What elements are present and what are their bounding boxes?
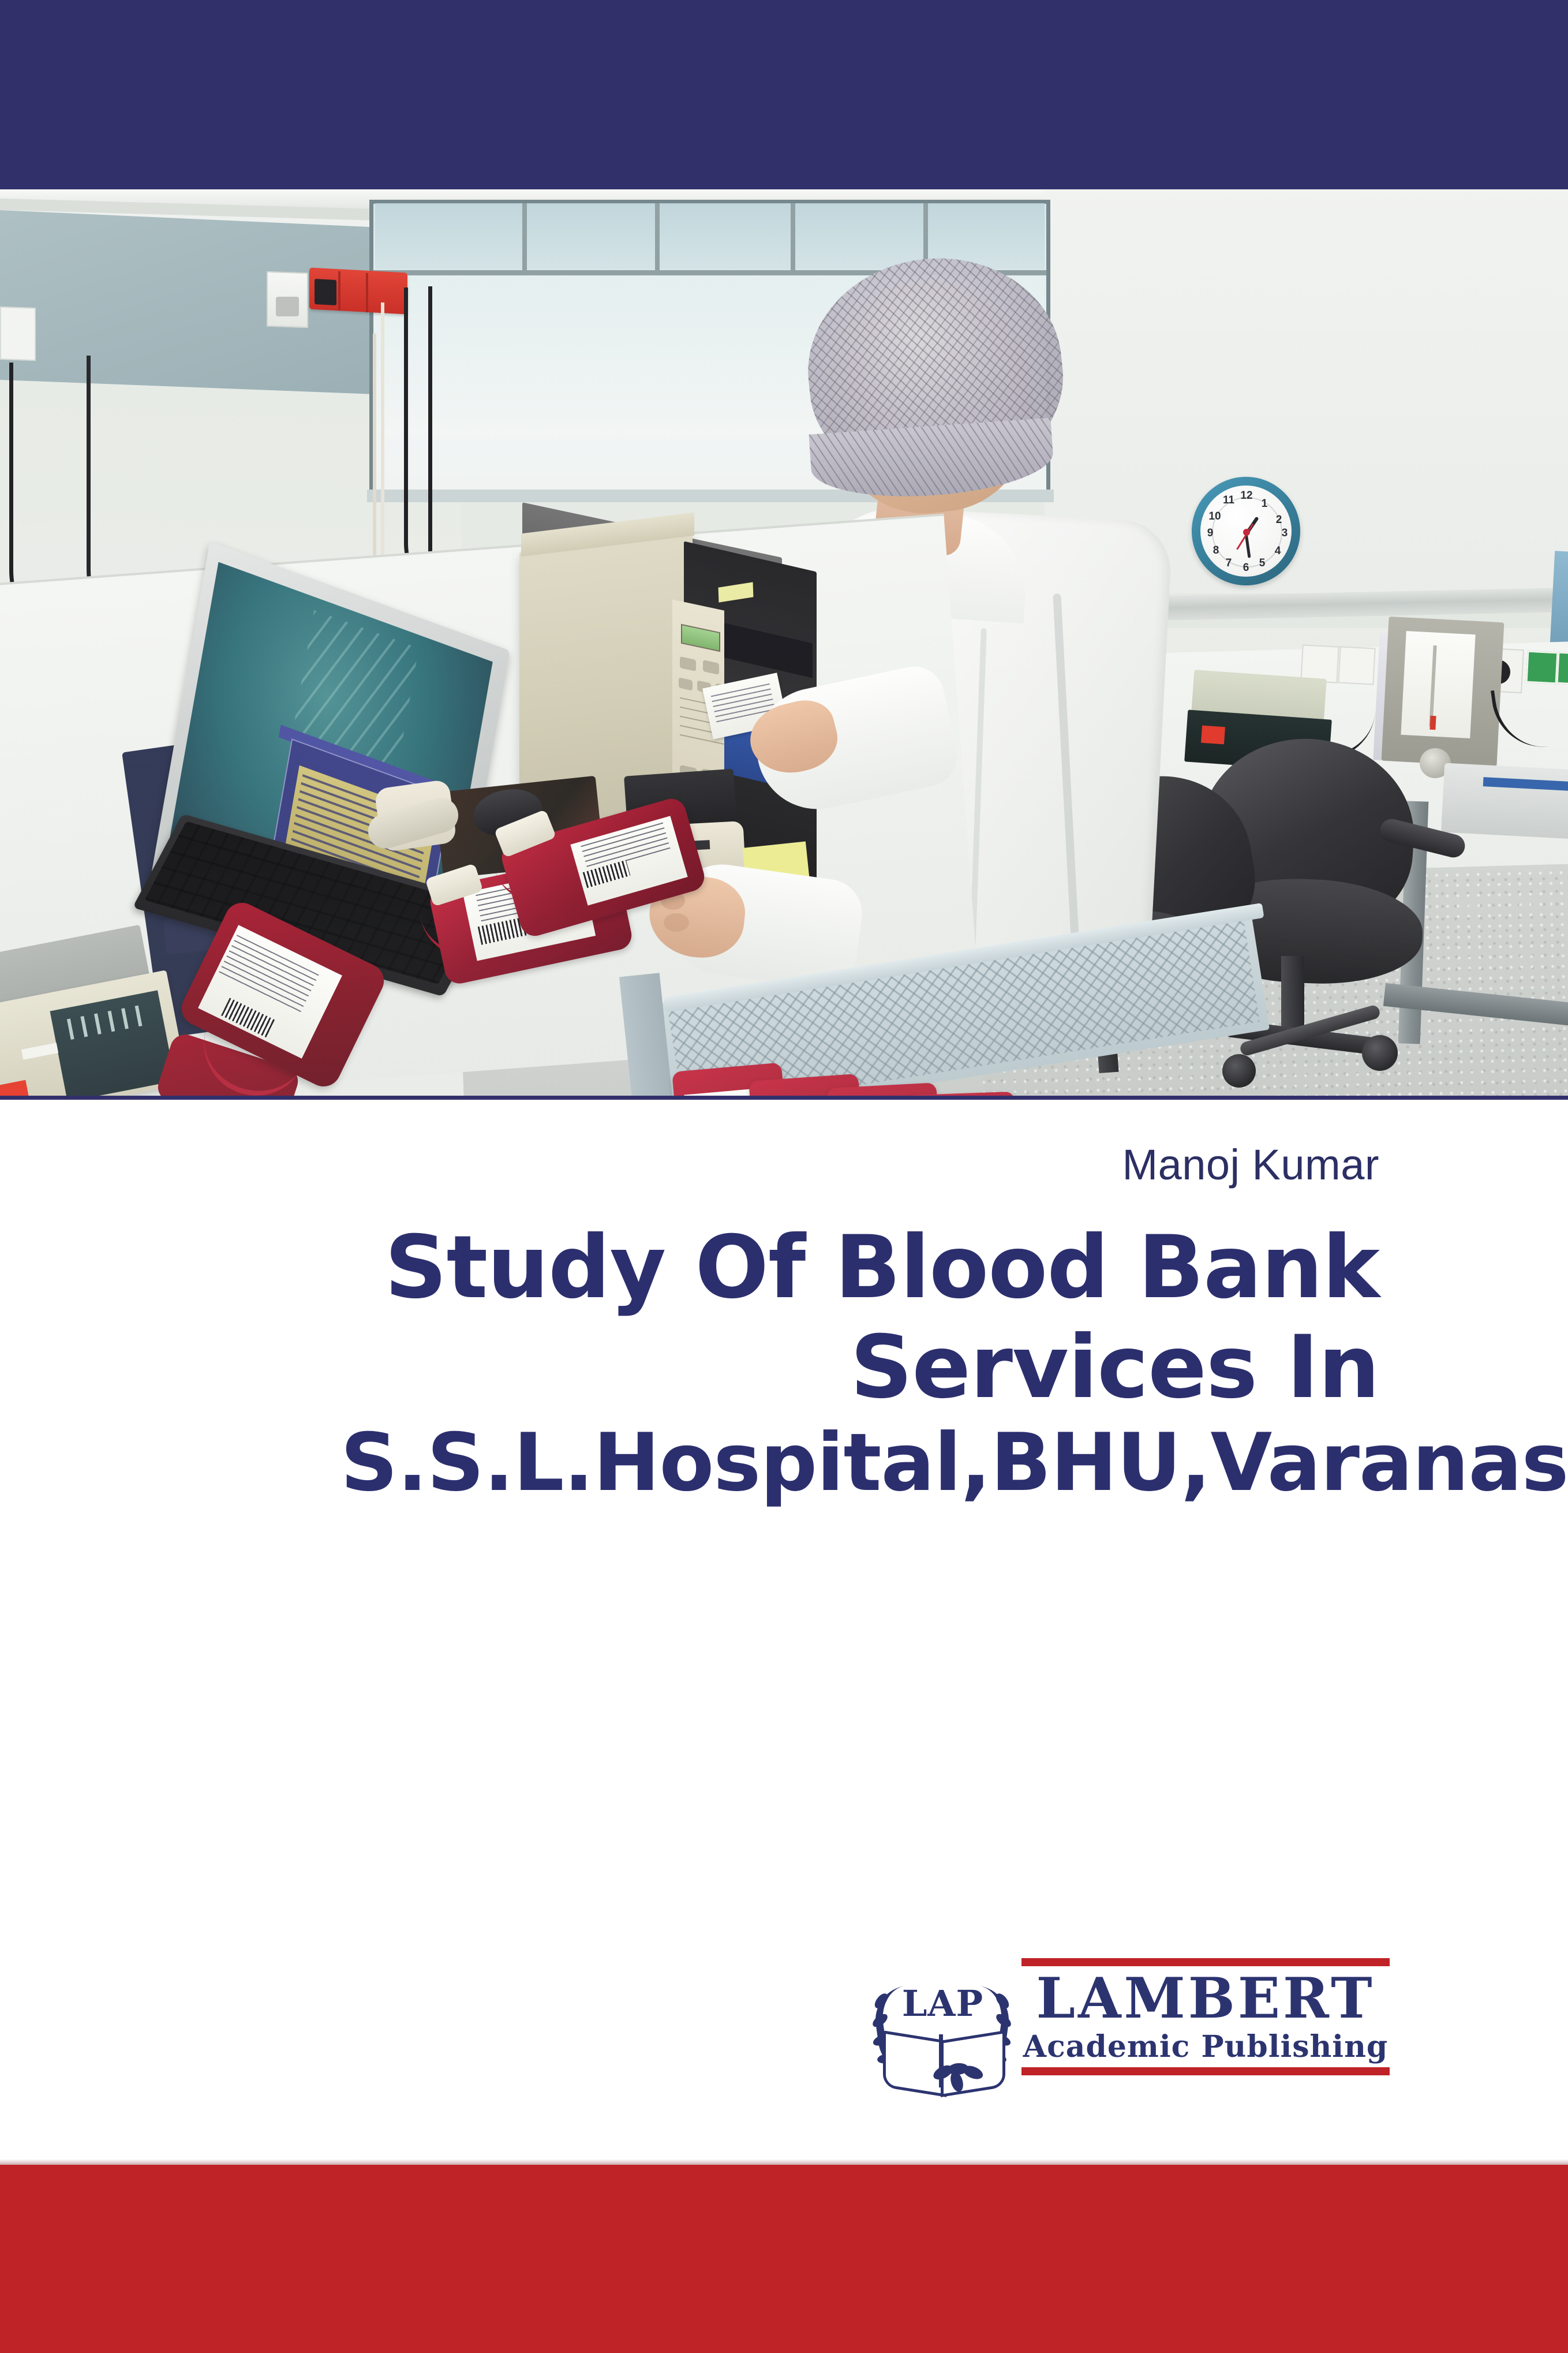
clock-number-3: 3 <box>1278 527 1291 540</box>
book-cover: 12 1 2 3 4 5 6 7 8 9 10 11 <box>0 0 1568 2353</box>
publisher-tagline: Academic Publishing <box>1021 2029 1390 2065</box>
clock-number-10: 10 <box>1207 510 1222 523</box>
clock-number-9: 9 <box>1204 527 1217 540</box>
counter-socket-green-2 <box>1556 652 1568 686</box>
clock-number-7: 7 <box>1222 557 1235 570</box>
clock-number-1: 1 <box>1258 498 1271 510</box>
clock-number-8: 8 <box>1210 544 1222 557</box>
lap-acronym: LAP <box>892 1982 993 2025</box>
author-name: Manoj Kumar <box>514 1140 1379 1189</box>
hand-knuckle-2 <box>664 913 689 932</box>
counter-socket-plate-2 <box>1338 646 1375 685</box>
counter-socket-green-1 <box>1526 651 1559 685</box>
logo-rule-top <box>1021 1958 1390 1966</box>
window-mullion-3 <box>791 203 795 271</box>
lap-emblem: LAP <box>870 1966 1015 2090</box>
top-navy-band <box>0 0 1568 189</box>
wall-socket-far-left <box>0 307 36 361</box>
clock-number-4: 4 <box>1271 545 1284 558</box>
title-line-3: S.S.L.Hospital,BHU,Varanasi <box>340 1417 1379 1509</box>
title-line-1: Study Of Blood Bank <box>340 1218 1379 1318</box>
title-line-2: Services In <box>340 1318 1379 1418</box>
power-strip-plug <box>315 279 336 305</box>
publisher-logo: LAP LAMBERT Academic Publishing <box>870 1958 1390 2097</box>
book-title: Study Of Blood Bank Services In S.S.L.Ho… <box>340 1218 1379 1509</box>
clock-number-2: 2 <box>1273 514 1285 526</box>
crate-bag-label-2 <box>761 1099 852 1100</box>
cover-photograph: 12 1 2 3 4 5 6 7 8 9 10 11 <box>0 189 1568 1100</box>
counter-tray <box>1441 763 1568 840</box>
power-strip-divider-2 <box>366 273 368 312</box>
bottom-band-shadow <box>0 2159 1568 2165</box>
crate-front-lip <box>633 1095 1283 1100</box>
logo-rule-bottom <box>1021 2067 1390 2075</box>
power-strip-divider-1 <box>338 271 340 311</box>
bottom-red-band <box>0 2165 1568 2353</box>
wall-socket-opening <box>276 297 299 316</box>
counter-scale-button <box>1201 726 1225 745</box>
window-mullion-1 <box>522 203 527 271</box>
lab-instrument-label <box>1401 631 1475 738</box>
office-chair-caster-2 <box>1222 1054 1256 1088</box>
lab-instrument-indicator <box>1429 716 1436 730</box>
office-chair-caster-1 <box>1362 1035 1398 1071</box>
window-mullion-2 <box>655 203 660 271</box>
clock-number-12: 12 <box>1238 490 1255 502</box>
publisher-name: LAMBERT <box>1021 1970 1390 2028</box>
clock-number-11: 11 <box>1221 494 1236 507</box>
clock-number-5: 5 <box>1256 557 1268 570</box>
crate-bag-text-1 <box>695 1096 765 1100</box>
publisher-wordmark: LAMBERT Academic Publishing <box>1021 1958 1390 2075</box>
clock-center-pin <box>1243 529 1250 536</box>
laurel-sprig-icon <box>933 2063 982 2090</box>
clock-number-6: 6 <box>1240 562 1252 574</box>
